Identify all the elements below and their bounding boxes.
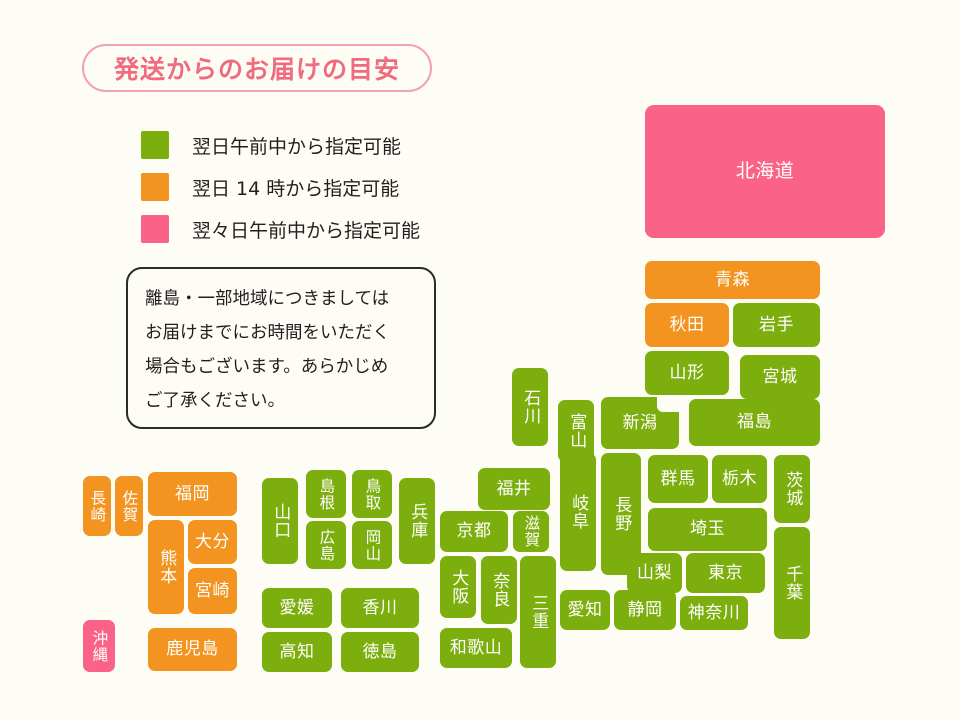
prefecture-tile[interactable]: 福島 — [689, 399, 820, 446]
prefecture-tile[interactable]: 和歌山 — [440, 628, 512, 668]
prefecture-tile[interactable]: 宮城 — [740, 355, 820, 399]
prefecture-tile[interactable]: 熊本 — [148, 520, 184, 614]
prefecture-tile[interactable]: 岐阜 — [560, 453, 596, 571]
prefecture-tile[interactable]: 栃木 — [712, 455, 767, 503]
prefecture-tile[interactable]: 徳島 — [341, 632, 419, 672]
prefecture-tile[interactable]: 奈良 — [481, 556, 517, 624]
prefecture-tile[interactable]: 山形 — [645, 351, 729, 395]
prefecture-tile[interactable]: 北海道 — [645, 105, 885, 238]
prefecture-tile[interactable]: 兵庫 — [399, 478, 435, 564]
prefecture-tile[interactable]: 大分 — [188, 520, 237, 564]
prefecture-tile[interactable]: 山口 — [262, 478, 298, 564]
prefecture-tile[interactable]: 京都 — [440, 511, 508, 552]
infographic-canvas: 発送からのお届けの目安 翌日午前中から指定可能翌日 14 時から指定可能翌々日午… — [0, 0, 960, 720]
prefecture-tile[interactable]: 滋賀 — [513, 511, 549, 552]
prefecture-tile[interactable]: 石川 — [512, 368, 548, 446]
prefecture-tile[interactable]: 茨城 — [774, 455, 810, 523]
prefecture-tile[interactable]: 島根 — [306, 470, 346, 518]
prefecture-tile[interactable]: 大阪 — [440, 556, 476, 618]
prefecture-tile[interactable]: 長崎 — [83, 476, 111, 536]
prefecture-tile[interactable]: 岩手 — [733, 303, 820, 347]
prefecture-tile[interactable]: 埼玉 — [648, 508, 767, 551]
prefecture-tile[interactable]: 高知 — [262, 632, 332, 672]
prefecture-tile[interactable]: 沖縄 — [83, 620, 115, 672]
prefecture-tile[interactable]: 静岡 — [614, 590, 676, 630]
japan-prefecture-map: 北海道青森秋田岩手山形宮城石川富山新潟福島福井岐阜長野群馬栃木茨城埼玉山梨東京千… — [0, 0, 960, 720]
prefecture-tile[interactable]: 山梨 — [627, 553, 682, 593]
prefecture-tile[interactable]: 宮崎 — [188, 568, 237, 614]
prefecture-tile[interactable]: 鹿児島 — [148, 628, 237, 671]
prefecture-tile[interactable]: 秋田 — [645, 303, 729, 347]
hokkaido-seam — [645, 188, 733, 208]
prefecture-tile[interactable]: 愛媛 — [262, 588, 332, 628]
prefecture-tile[interactable]: 福井 — [478, 468, 550, 510]
niigata-notch — [657, 396, 681, 412]
prefecture-tile[interactable]: 青森 — [645, 261, 820, 299]
prefecture-tile[interactable]: 三重 — [520, 556, 556, 668]
prefecture-tile[interactable]: 東京 — [686, 553, 765, 593]
prefecture-tile[interactable]: 鳥取 — [352, 470, 392, 518]
prefecture-tile[interactable]: 佐賀 — [115, 476, 143, 536]
prefecture-tile[interactable]: 福岡 — [148, 472, 237, 516]
prefecture-tile[interactable]: 愛知 — [560, 590, 610, 630]
prefecture-tile[interactable]: 群馬 — [648, 455, 708, 503]
prefecture-tile[interactable]: 香川 — [341, 588, 419, 628]
prefecture-tile[interactable]: 岡山 — [352, 521, 392, 569]
prefecture-tile[interactable]: 広島 — [306, 521, 346, 569]
prefecture-tile[interactable]: 神奈川 — [680, 596, 748, 630]
prefecture-tile[interactable]: 千葉 — [774, 527, 810, 639]
